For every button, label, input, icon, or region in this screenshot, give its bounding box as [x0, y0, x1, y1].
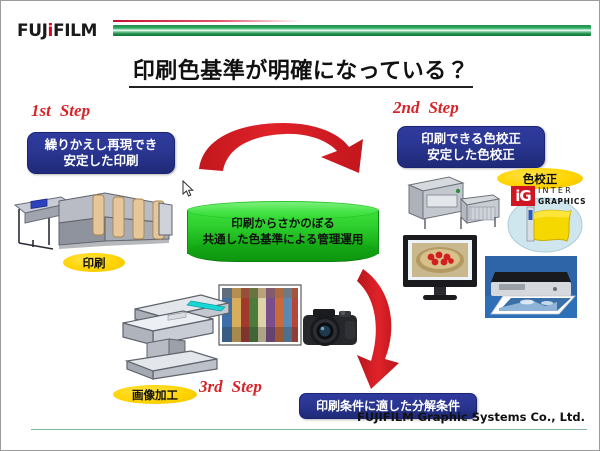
footer-divider-line [31, 429, 587, 430]
tag-printing-label: 印刷 [83, 255, 106, 271]
tag-printing: 印刷 [63, 253, 125, 272]
inter-graphics-wordmark: INTER GRAPHICS [538, 186, 586, 206]
offset-printing-press-illustration [9, 183, 173, 255]
fujifilm-logo-prefix: FUJ [17, 21, 48, 41]
digital-camera-illustration [299, 301, 361, 353]
tag-image-processing-label: 画像加工 [132, 387, 178, 403]
central-concept-cylinder: 印刷からさかのぼる 共通した色基準による管理運用 [187, 201, 379, 261]
step-label-2nd: 2ndStep [393, 98, 459, 118]
header-red-accent-line [113, 20, 303, 22]
step-2-ordinal: 2nd [393, 98, 419, 117]
callout-step-2: 印刷できる色校正 安定した色校正 [397, 126, 545, 168]
inter-graphics-mark: iG [511, 186, 535, 206]
callout-step-1: 繰りかえし再現でき 安定した印刷 [27, 132, 175, 174]
proofing-press-illustration [405, 173, 501, 233]
slide-canvas: FUJiFILM 印刷色基準が明確になっている？ 1stStep 繰りかえし再現… [0, 0, 600, 451]
step-2-word: Step [428, 98, 458, 117]
inter-graphics-logo: iG INTER GRAPHICS [511, 185, 591, 207]
inter-graphics-line-2: GRAPHICS [538, 197, 586, 206]
callout-step-2-line-2: 安定した色校正 [427, 147, 515, 163]
fujifilm-logo: FUJiFILM [17, 21, 97, 41]
color-monitor-illustration [401, 233, 479, 305]
callout-step-1-line-2: 安定した印刷 [63, 153, 138, 169]
callout-step-2-line-1: 印刷できる色校正 [421, 131, 521, 147]
fujifilm-logo-suffix: FILM [53, 21, 97, 41]
header-green-bar [113, 25, 591, 36]
callout-step-1-line-1: 繰りかえし再現でき [45, 137, 158, 153]
tag-image-processing: 画像加工 [113, 385, 197, 404]
slide-header: FUJiFILM [1, 1, 600, 47]
step-label-1st: 1stStep [31, 101, 90, 121]
step-1-word: Step [60, 101, 90, 120]
cylinder-text-line-1: 印刷からさかのぼる [187, 215, 379, 231]
arrow-step1-to-step2 [197, 121, 373, 183]
step-3-word: Step [232, 377, 262, 396]
footer-company-name: FUJIFILM Graphic Systems Co., Ltd. [357, 410, 585, 424]
cylinder-text: 印刷からさかのぼる 共通した色基準による管理運用 [187, 215, 379, 247]
page-title-text: 印刷色基準が明確になっている？ [129, 59, 473, 88]
mouse-cursor [182, 180, 194, 198]
step-1-ordinal: 1st [31, 101, 51, 120]
cylinder-text-line-2: 共通した色基準による管理運用 [187, 231, 379, 247]
step-3-ordinal: 3rd [199, 377, 223, 396]
flatbed-scanner-illustration [113, 281, 305, 381]
step-label-3rd: 3rdStep [199, 377, 262, 397]
inkjet-proof-printer-illustration [485, 256, 577, 318]
inter-graphics-line-1: INTER [538, 186, 586, 195]
page-title: 印刷色基準が明確になっている？ [1, 53, 600, 85]
